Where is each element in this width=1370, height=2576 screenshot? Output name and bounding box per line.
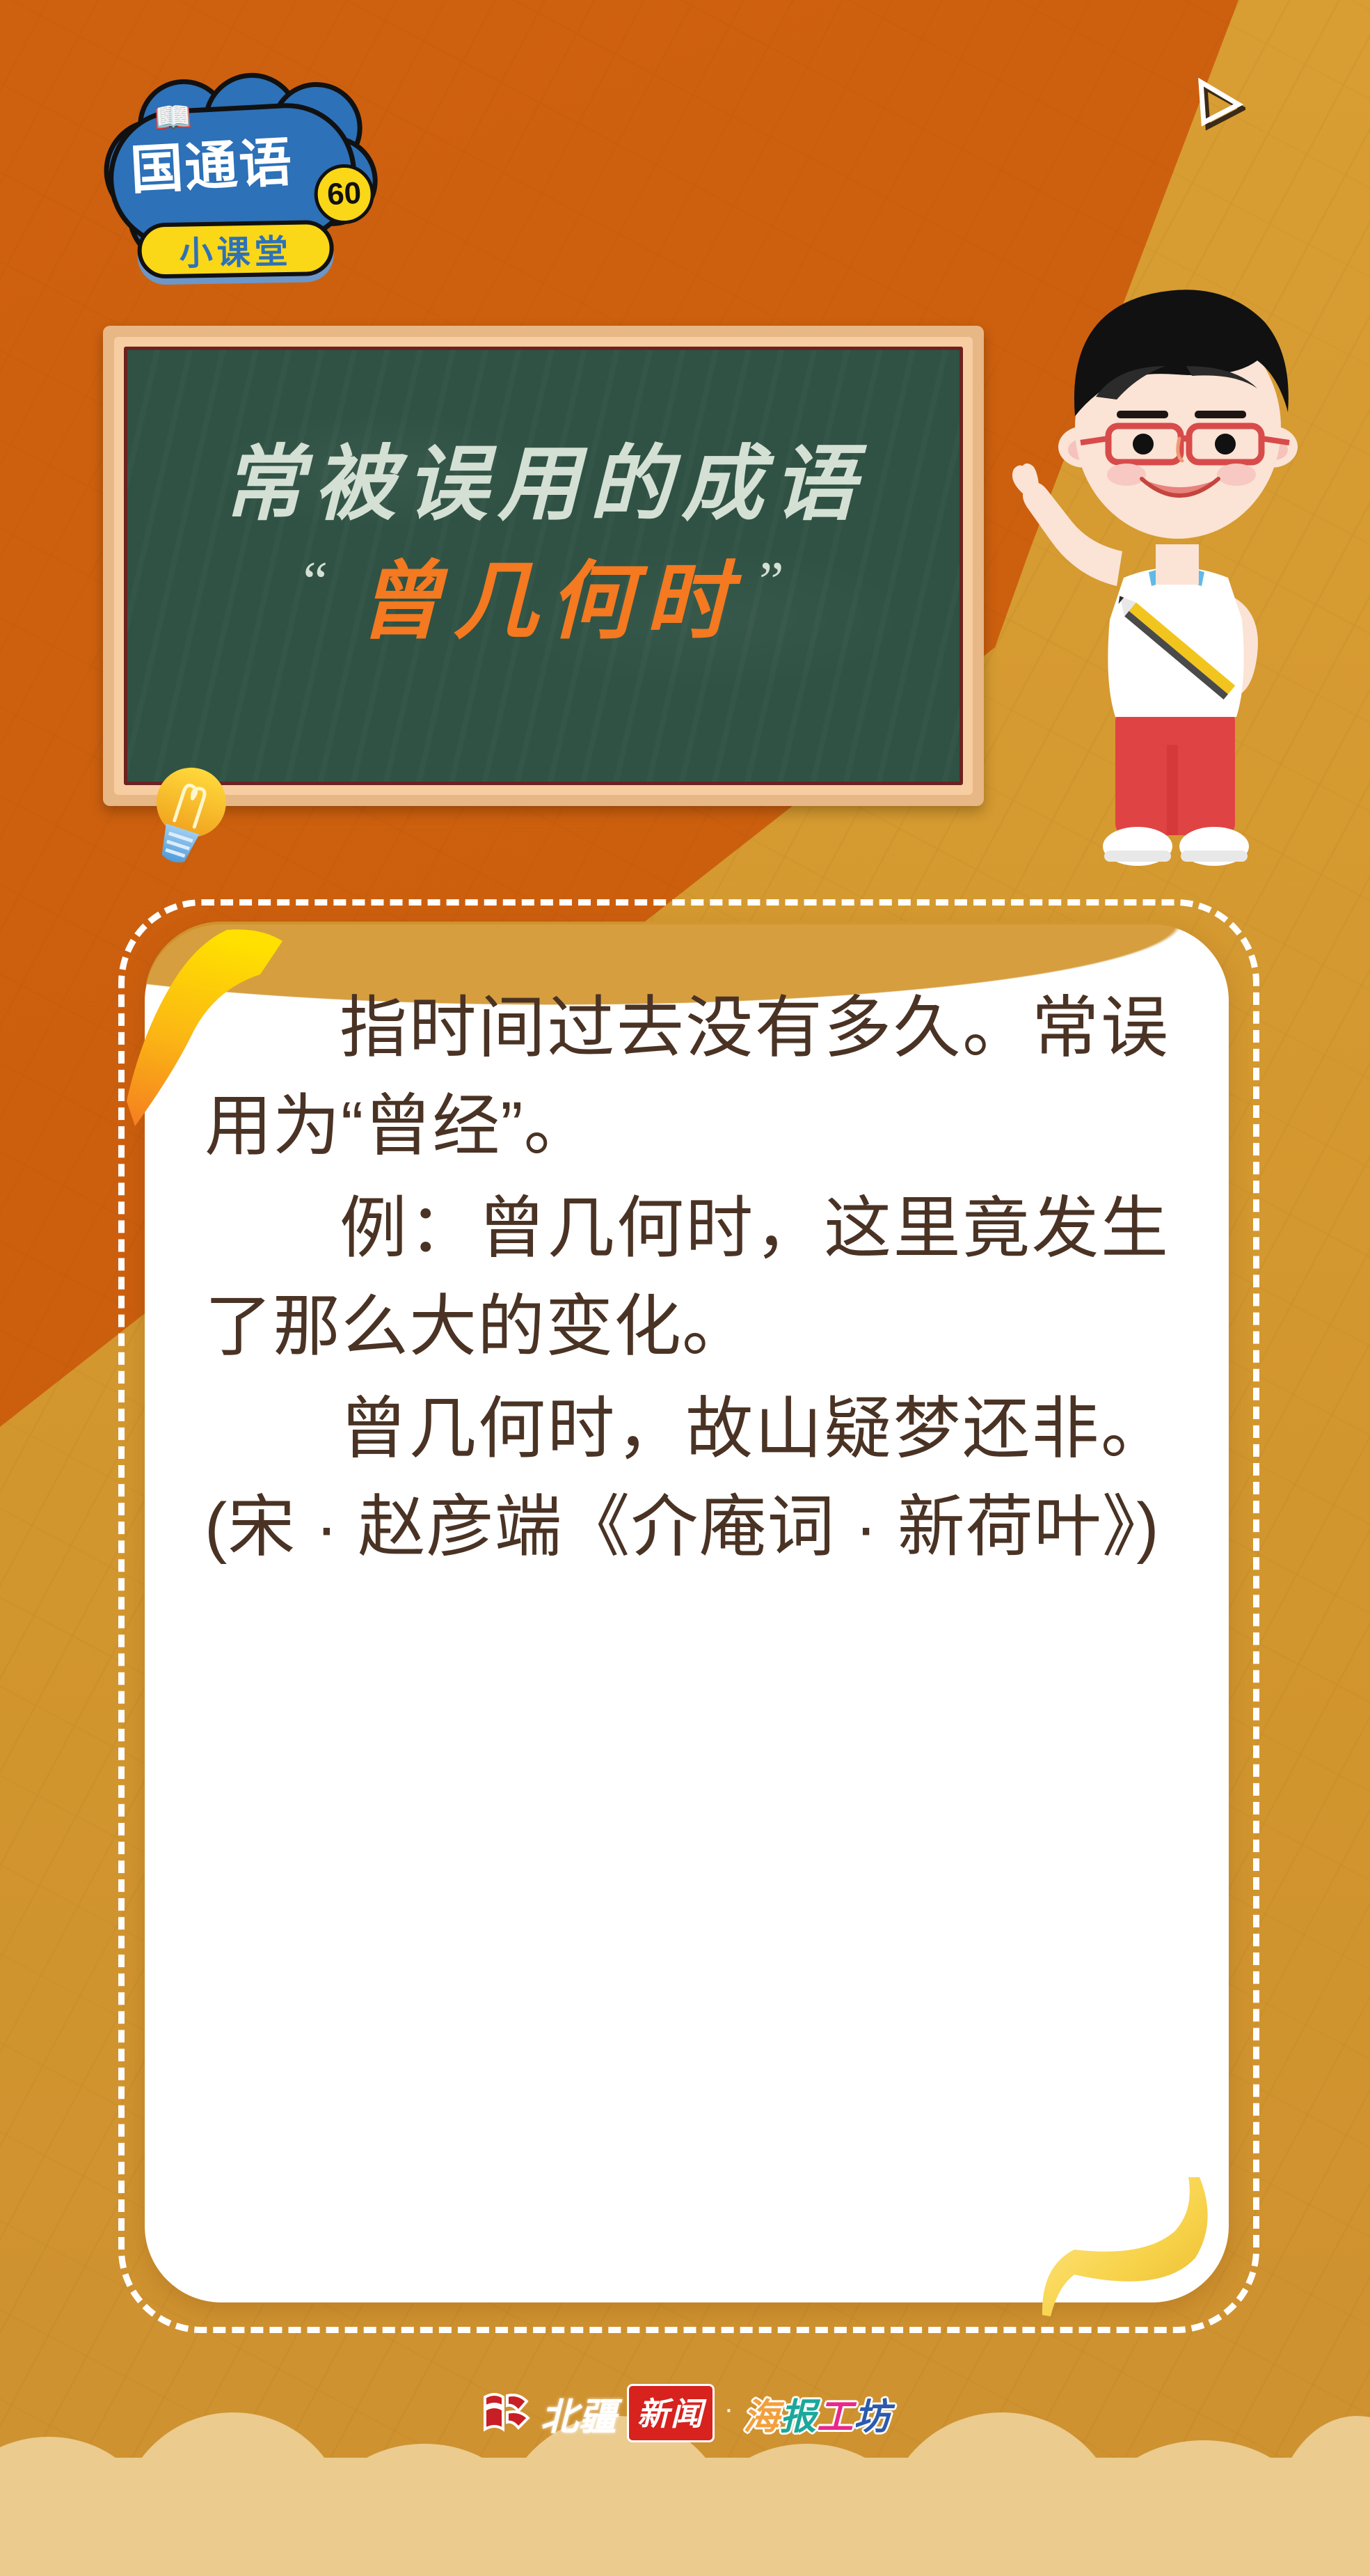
quote-open: “ xyxy=(303,554,328,610)
blackboard: 常被误用的成语 “ 曾几何时 ” xyxy=(103,326,984,806)
blackboard-frame: 常被误用的成语 “ 曾几何时 ” xyxy=(114,337,973,795)
footer-news-label: 新闻 xyxy=(627,2384,715,2442)
blackboard-idiom: 曾几何时 xyxy=(346,532,741,656)
ribbon-curl-top-left xyxy=(124,926,284,1135)
blackboard-title: 常被误用的成语 xyxy=(127,417,959,536)
footer-separator: · xyxy=(724,2395,733,2423)
poster-root: 📖 国通语 60 小课堂 常被误用的成语 “ 曾几何时 ” xyxy=(0,0,1370,2576)
footer-workshop-name: 海报工坊 xyxy=(743,2387,891,2440)
bei-flag-mark-icon xyxy=(479,2390,531,2436)
content-card: 指时间过去没有多久。常误用为“曾经”。 例：曾几何时，这里竟发生了那么大的变化。… xyxy=(145,924,1229,2302)
quote-close: ” xyxy=(759,554,784,610)
brand-logo[interactable]: 📖 国通语 60 小课堂 xyxy=(99,65,402,283)
logo-subtitle-banner: 小课堂 xyxy=(137,220,334,279)
definition-paragraph: 指时间过去没有多久。常误用为“曾经”。 xyxy=(205,979,1169,1175)
example-paragraph: 例：曾几何时，这里竟发生了那么大的变化。 xyxy=(205,1179,1169,1375)
book-icon: 📖 xyxy=(153,98,193,136)
blackboard-surface: 常被误用的成语 “ 曾几何时 ” xyxy=(124,347,963,785)
logo-title: 国通语 xyxy=(129,132,340,199)
blackboard-idiom-row: “ 曾几何时 ” xyxy=(127,532,959,656)
logo-subtitle-text: 小课堂 xyxy=(179,224,292,275)
footer-workshop-char-1: 报 xyxy=(780,2387,817,2440)
footer-workshop-char-2: 工 xyxy=(817,2387,854,2440)
bottom-cloud-decoration xyxy=(0,2346,1370,2576)
footer-brand-name: 北疆 xyxy=(541,2386,617,2441)
play-triangle-icon xyxy=(1198,78,1245,131)
content-card-body: 指时间过去没有多久。常误用为“曾经”。 例：曾几何时，这里竟发生了那么大的变化。… xyxy=(205,979,1169,1576)
student-boy-illustration xyxy=(1012,230,1346,898)
ribbon-curl-bottom-right xyxy=(991,2177,1220,2358)
footer-workshop-char-0: 海 xyxy=(743,2387,780,2440)
footer-brand-logo[interactable]: 北疆 新闻 · 海报工坊 xyxy=(0,2384,1370,2442)
citation-paragraph: 曾几何时，故山疑梦还非。(宋 · 赵彦端《介庵词 · 新荷叶》) xyxy=(205,1380,1169,1576)
footer-workshop-char-3: 坊 xyxy=(854,2387,891,2440)
